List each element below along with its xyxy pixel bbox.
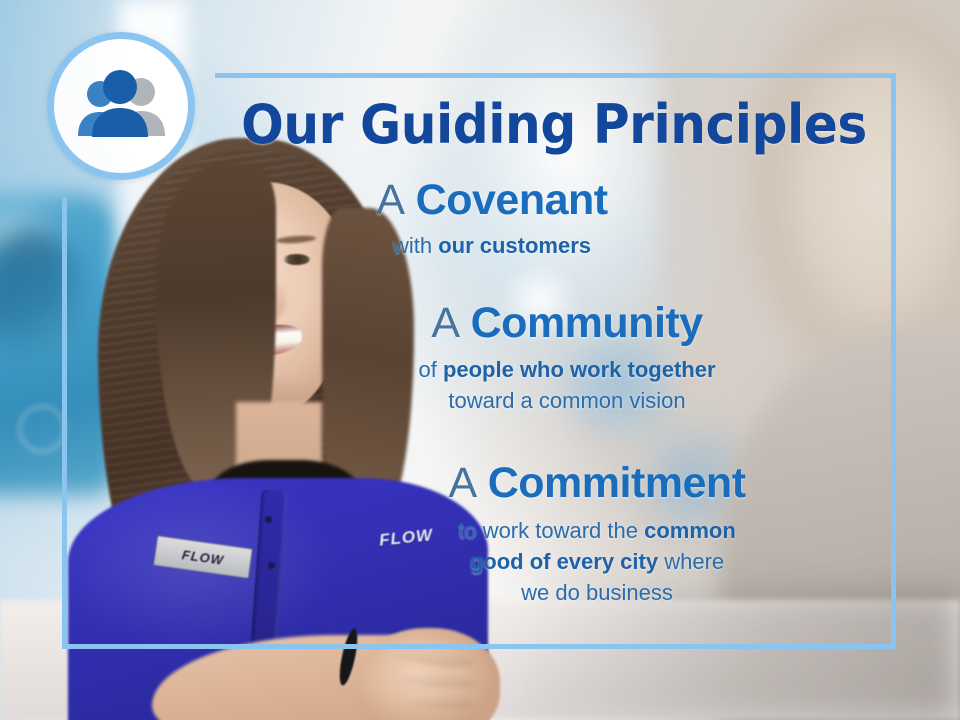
plain-text: to work toward the bbox=[458, 518, 644, 543]
principle-covenant: A Covenant with our customers bbox=[212, 178, 772, 262]
plain-text: toward a common vision bbox=[448, 388, 685, 413]
principle-article: A bbox=[448, 459, 487, 507]
description-line: good of every city where bbox=[292, 547, 902, 578]
principle-heading: A Community bbox=[262, 301, 872, 346]
principle-keyword: Covenant bbox=[416, 176, 608, 224]
description-line: we do business bbox=[292, 578, 902, 609]
description-line: with our customers bbox=[212, 231, 772, 262]
page-title: Our Guiding Principles bbox=[236, 97, 872, 152]
plain-text: where bbox=[658, 549, 724, 574]
description-line: of people who work together bbox=[262, 355, 872, 386]
principle-description: to work toward the commongood of every c… bbox=[292, 516, 902, 608]
blurred-vehicle-emblem-icon bbox=[18, 405, 66, 453]
principle-heading: A Commitment bbox=[292, 461, 902, 506]
emphasis-text: people who work together bbox=[443, 357, 716, 382]
plain-text: of bbox=[418, 357, 442, 382]
emphasis-text: our customers bbox=[438, 233, 591, 258]
principle-keyword: Community bbox=[471, 299, 703, 347]
principle-description: of people who work togethertoward a comm… bbox=[262, 355, 872, 417]
description-line: toward a common vision bbox=[262, 386, 872, 417]
emphasis-text: common bbox=[644, 518, 736, 543]
description-line: to work toward the common bbox=[292, 516, 902, 547]
principle-article: A bbox=[431, 299, 470, 347]
poster-content: Our Guiding Principles A Covenant with o… bbox=[62, 73, 896, 649]
principle-article: A bbox=[376, 176, 415, 224]
emphasis-text: good of every city bbox=[470, 549, 658, 574]
plain-text: with bbox=[393, 233, 438, 258]
principle-commitment: A Commitment to work toward the commongo… bbox=[292, 461, 902, 609]
guiding-principles-poster: FLOW FLOW bbox=[0, 0, 960, 720]
principle-keyword: Commitment bbox=[488, 459, 746, 507]
principle-community: A Community of people who work togethert… bbox=[262, 301, 872, 417]
principle-heading: A Covenant bbox=[212, 178, 772, 223]
principle-description: with our customers bbox=[212, 231, 772, 262]
plain-text: we do business bbox=[521, 580, 673, 605]
